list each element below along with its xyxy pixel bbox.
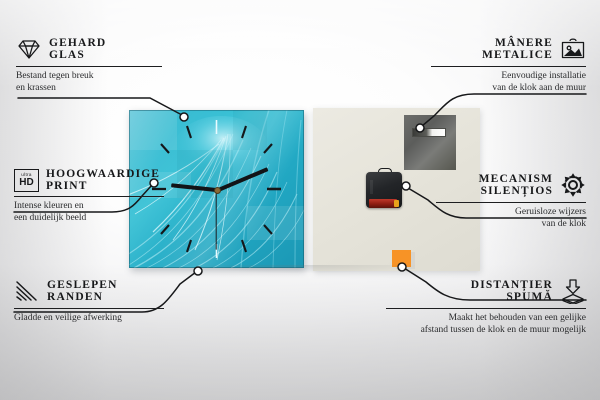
feature-divider bbox=[436, 202, 586, 203]
feature-title-line2: RANDEN bbox=[47, 291, 118, 303]
feature-subtitle-line1: Eenvoudige installatie bbox=[431, 71, 586, 83]
feature-subtitle-line2: afstand tussen de klok en de muur mogeli… bbox=[386, 325, 586, 337]
callout-dot-gehard-glas bbox=[180, 113, 188, 121]
feature-divider bbox=[14, 308, 164, 309]
feature-title-line2: SPUMĂ bbox=[471, 291, 553, 303]
feature-divider bbox=[386, 308, 586, 309]
beveled-edge-icon bbox=[14, 278, 40, 304]
feature-subtitle-line1: Gladde en veilige afwerking bbox=[14, 313, 174, 325]
gear-icon bbox=[560, 172, 586, 198]
spacer-pad-icon bbox=[560, 278, 586, 304]
feature-subtitle-line1: Maakt het behouden van een gelijke bbox=[386, 313, 586, 325]
diamond-icon bbox=[16, 36, 42, 62]
feature-divider bbox=[16, 66, 162, 67]
feature-title-line2: GLAS bbox=[49, 49, 106, 61]
feature-title-line2: SILENȚIOS bbox=[479, 185, 553, 197]
feature-title-line1: MECANISM bbox=[479, 173, 553, 185]
feature-subtitle-line1: Bestand tegen breuk bbox=[16, 71, 171, 83]
feature-manere-metalice[interactable]: MÂNERE METALICE Eenvoudige installatie v… bbox=[431, 36, 586, 95]
feature-subtitle-line1: Geruisloze wijzers bbox=[436, 207, 586, 219]
feature-title-line2: PRINT bbox=[46, 180, 160, 192]
callout-line-gehard-glas bbox=[18, 98, 182, 115]
feature-title-line1: MÂNERE bbox=[482, 37, 553, 49]
feature-hoogwaardige-print[interactable]: ultra HD HOOGWAARDIGE PRINT Intense kleu… bbox=[14, 168, 174, 225]
feature-subtitle-line2: van de klok aan de muur bbox=[431, 83, 586, 95]
feature-title-line1: GESLEPEN bbox=[47, 279, 118, 291]
ultra-hd-large-label: HD bbox=[19, 178, 33, 188]
callout-dot-manere-metalice bbox=[416, 124, 424, 132]
feature-subtitle-line2: een duidelijk beeld bbox=[14, 213, 174, 225]
feature-title-line1: HOOGWAARDIGE bbox=[46, 168, 160, 180]
wall-hook-frame-icon bbox=[560, 36, 586, 62]
infographic-canvas: GEHARD GLAS Bestand tegen breuk en krass… bbox=[0, 0, 600, 400]
callout-dot-mecanism-silentios bbox=[402, 182, 410, 190]
feature-geslepen-randen[interactable]: GESLEPEN RANDEN Gladde en veilige afwerk… bbox=[14, 278, 174, 325]
callout-line-manere-metalice bbox=[422, 94, 586, 126]
feature-title-line2: METALICE bbox=[482, 49, 553, 61]
feature-subtitle-line1: Intense kleuren en bbox=[14, 201, 174, 213]
callout-dot-distantier-spuma bbox=[398, 263, 406, 271]
feature-title-line1: GEHARD bbox=[49, 37, 106, 49]
feature-subtitle-line2: en krassen bbox=[16, 83, 171, 95]
feature-mecanism-silentios[interactable]: MECANISM SILENȚIOS Ger bbox=[436, 172, 586, 231]
feature-gehard-glas[interactable]: GEHARD GLAS Bestand tegen breuk en krass… bbox=[16, 36, 171, 95]
feature-distantier-spuma[interactable]: DISTANȚIER SPUMĂ Maakt het behouden van … bbox=[386, 278, 586, 337]
feature-title-line1: DISTANȚIER bbox=[471, 279, 553, 291]
feature-subtitle-line2: van de klok bbox=[436, 219, 586, 231]
feature-divider bbox=[14, 196, 164, 197]
ultra-hd-icon: ultra HD bbox=[14, 169, 39, 192]
feature-divider bbox=[431, 66, 586, 67]
callout-dot-geslepen-randen bbox=[194, 267, 202, 275]
